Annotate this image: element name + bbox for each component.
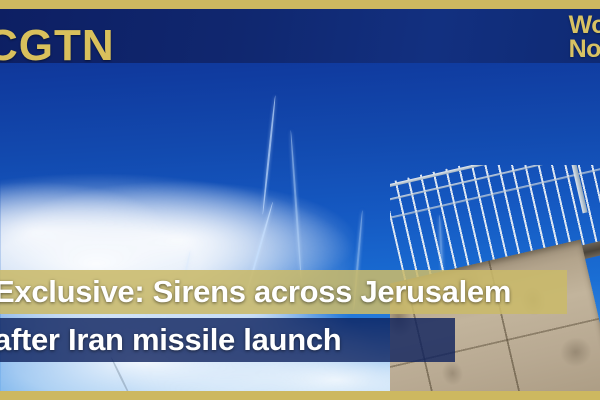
- watermark-line-2: No: [569, 37, 600, 61]
- headline-line-2: after Iran missile launch: [0, 318, 341, 362]
- network-header-banner: CGTN Wo No: [0, 9, 600, 63]
- bottom-gold-bar: [0, 391, 600, 400]
- headline-line-1: Exclusive: Sirens across Jerusalem: [0, 270, 511, 314]
- broadcast-frame: CGTN Wo No Exclusive: Sirens across Jeru…: [0, 0, 600, 400]
- cgtn-logo: CGTN: [0, 24, 115, 63]
- program-watermark: Wo No: [569, 13, 600, 61]
- watermark-line-1: Wo: [569, 13, 600, 37]
- top-gold-bar: [0, 0, 600, 9]
